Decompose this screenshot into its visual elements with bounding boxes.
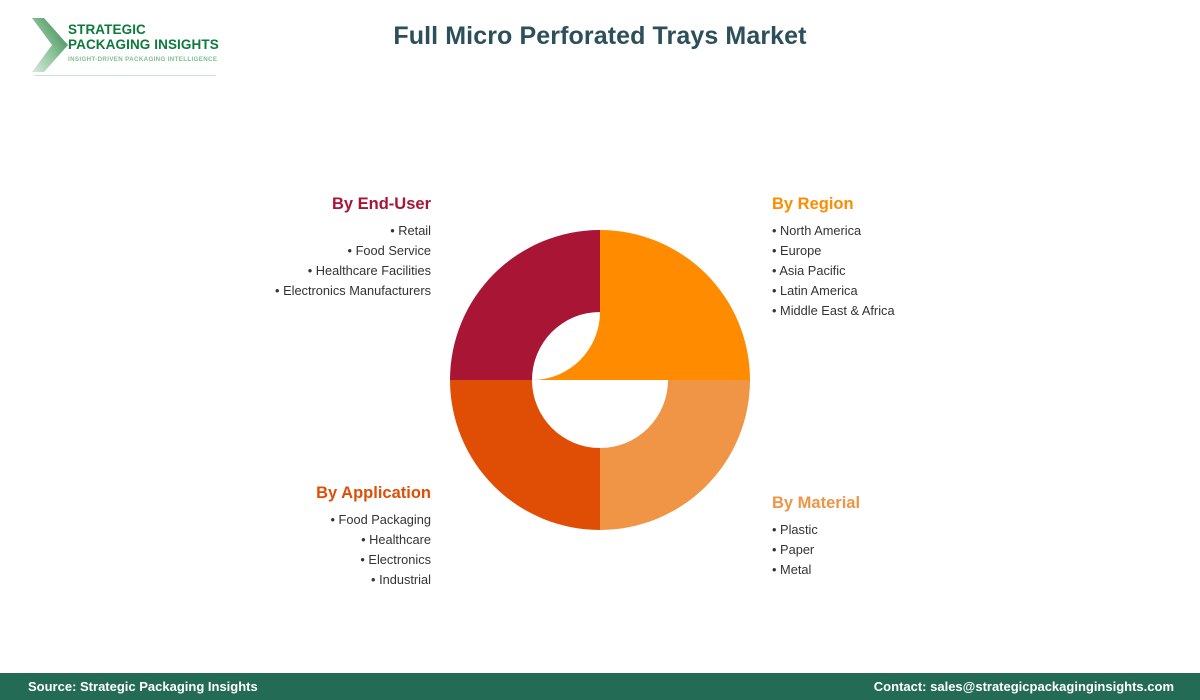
- bullet-icon: •: [772, 303, 776, 318]
- segment-group-material: By Material • Plastic • Paper • Metal: [772, 493, 860, 580]
- segment-heading-end-user: By End-User: [275, 194, 431, 214]
- bullet-icon: •: [772, 283, 776, 298]
- bullet-icon: •: [371, 572, 375, 587]
- list-item-label: Industrial: [379, 572, 431, 587]
- list-item-label: North America: [780, 223, 861, 238]
- list-item-label: Healthcare Facilities: [316, 263, 431, 278]
- footer-bar: Source: Strategic Packaging Insights Con…: [0, 673, 1200, 700]
- list-item-label: Europe: [780, 243, 821, 258]
- list-item: • Europe: [772, 241, 895, 261]
- bullet-icon: •: [360, 552, 364, 567]
- bullet-icon: •: [330, 512, 334, 527]
- list-item: • Healthcare Facilities: [275, 261, 431, 281]
- bullet-icon: •: [772, 263, 776, 278]
- donut-slice-material: [600, 380, 750, 530]
- segment-heading-material: By Material: [772, 493, 860, 513]
- footer-source-text: Source: Strategic Packaging Insights: [28, 679, 258, 694]
- list-item: • Latin America: [772, 281, 895, 301]
- list-item-label: Electronics Manufacturers: [283, 283, 431, 298]
- bullet-icon: •: [348, 243, 352, 258]
- list-item: • Asia Pacific: [772, 261, 895, 281]
- donut-chart: [450, 230, 750, 530]
- list-item: • Food Packaging: [316, 510, 431, 530]
- list-item: • Middle East & Africa: [772, 301, 895, 321]
- list-item-label: Plastic: [780, 522, 818, 537]
- list-item-label: Latin America: [780, 283, 858, 298]
- list-item: • Paper: [772, 540, 860, 560]
- donut-slice-application: [450, 380, 600, 530]
- footer-contact-text[interactable]: Contact: sales@strategicpackaginginsight…: [874, 679, 1174, 694]
- segment-group-application: By Application • Food Packaging • Health…: [316, 483, 431, 590]
- list-item-label: Retail: [398, 223, 431, 238]
- list-item-label: Food Service: [356, 243, 431, 258]
- list-item-label: Paper: [780, 542, 814, 557]
- segment-group-region: By Region • North America • Europe • Asi…: [772, 194, 895, 321]
- list-item: • Retail: [275, 221, 431, 241]
- list-item-label: Middle East & Africa: [780, 303, 895, 318]
- bullet-icon: •: [275, 283, 279, 298]
- logo-divider: [34, 75, 216, 76]
- list-item-label: Metal: [780, 562, 811, 577]
- segment-heading-region: By Region: [772, 194, 895, 214]
- segment-list-application: • Food Packaging • Healthcare • Electron…: [316, 510, 431, 590]
- donut-slice-end-user: [450, 230, 600, 380]
- donut-chart-svg: [450, 230, 750, 530]
- bullet-icon: •: [772, 542, 776, 557]
- bullet-icon: •: [772, 243, 776, 258]
- list-item: • Metal: [772, 560, 860, 580]
- segment-heading-application: By Application: [316, 483, 431, 503]
- list-item: • Food Service: [275, 241, 431, 261]
- page-title: Full Micro Perforated Trays Market: [0, 22, 1200, 51]
- segment-list-material: • Plastic • Paper • Metal: [772, 520, 860, 580]
- list-item: • North America: [772, 221, 895, 241]
- list-item: • Electronics: [316, 550, 431, 570]
- bullet-icon: •: [361, 532, 365, 547]
- list-item-label: Electronics: [368, 552, 431, 567]
- list-item-label: Food Packaging: [339, 512, 431, 527]
- brand-tagline: INSIGHT-DRIVEN PACKAGING INTELLIGENCE: [68, 56, 228, 63]
- bullet-icon: •: [308, 263, 312, 278]
- list-item: • Industrial: [316, 570, 431, 590]
- infographic-page: STRATEGIC PACKAGING INSIGHTS INSIGHT-DRI…: [0, 0, 1200, 700]
- bullet-icon: •: [772, 223, 776, 238]
- bullet-icon: •: [772, 562, 776, 577]
- bullet-icon: •: [390, 223, 394, 238]
- list-item: • Healthcare: [316, 530, 431, 550]
- list-item: • Electronics Manufacturers: [275, 281, 431, 301]
- segment-list-region: • North America • Europe • Asia Pacific …: [772, 221, 895, 321]
- list-item: • Plastic: [772, 520, 860, 540]
- list-item-label: Healthcare: [369, 532, 431, 547]
- segment-list-end-user: • Retail • Food Service • Healthcare Fac…: [275, 221, 431, 301]
- list-item-label: Asia Pacific: [779, 263, 845, 278]
- bullet-icon: •: [772, 522, 776, 537]
- segment-group-end-user: By End-User • Retail • Food Service • He…: [275, 194, 431, 301]
